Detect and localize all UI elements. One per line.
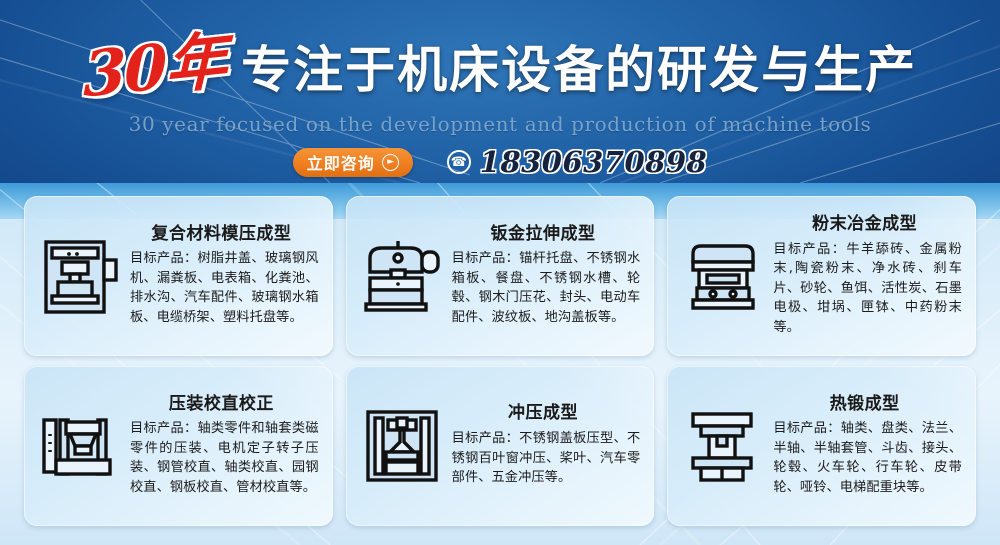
card-description: 目标产品：不锈钢盖板压型、不锈钢百叶窗冲压、桨叶、汽车零部件、五金冲压等。 <box>452 429 641 488</box>
card-body: 热锻成型 目标产品：轴类、盘类、法兰、半轴、半轴套管、斗齿、接头、轮毂、火车轮、… <box>771 395 964 498</box>
feature-card[interactable]: 复合材料模压成型 目标产品：树脂井盖、玻璃钢风机、漏粪板、电表箱、化粪池、排水沟… <box>24 196 333 356</box>
cta-row: 立即咨询 ► ☎ 18306370898 <box>0 145 1000 179</box>
card-body: 压装校直校正 目标产品：轴类零件和轴套类磁零件的压装、电机定子转子压装、钢管校直… <box>128 395 321 498</box>
hot-forging-press-icon <box>675 398 771 494</box>
feature-card[interactable]: 热锻成型 目标产品：轴类、盘类、法兰、半轴、半轴套管、斗齿、接头、轮毂、火车轮、… <box>667 366 976 526</box>
card-title: 复合材料模压成型 <box>130 225 319 244</box>
card-title: 粉末冶金成型 <box>773 215 962 234</box>
card-body: 钣金拉伸成型 目标产品：锚杆托盘、不锈钢水箱板、餐盘、不锈钢水槽、轮毂、钢木门压… <box>450 225 643 328</box>
phone-handset-icon: ☎ <box>447 150 471 174</box>
press-fitting-straightening-icon <box>32 398 128 494</box>
phone-group: ☎ 18306370898 <box>447 145 707 179</box>
stamping-press-icon <box>354 398 450 494</box>
play-arrow-icon: ► <box>382 154 399 171</box>
card-description: 目标产品：轴类零件和轴套类磁零件的压装、电机定子转子压装、钢管校直、轴类校直、园… <box>130 419 319 497</box>
card-description: 目标产品：牛羊舔砖、金属粉末,陶瓷粉末、净水砖、刹车片、砂轮、鱼饵、活性炭、石墨… <box>773 240 962 338</box>
card-title: 压装校直校正 <box>130 395 319 414</box>
card-title: 冲压成型 <box>452 404 641 423</box>
card-description: 目标产品：树脂井盖、玻璃钢风机、漏粪板、电表箱、化粪池、排水沟、汽车配件、玻璃钢… <box>130 249 319 327</box>
promo-banner: 30年 专注于机床设备的研发与生产 30 year focused on the… <box>0 0 1000 545</box>
card-description: 目标产品：轴类、盘类、法兰、半轴、半轴套管、斗齿、接头、轮毂、火车轮、行车轮、皮… <box>773 419 962 497</box>
card-title: 热锻成型 <box>773 395 962 414</box>
feature-card[interactable]: 粉末冶金成型 目标产品：牛羊舔砖、金属粉末,陶瓷粉末、净水砖、刹车片、砂轮、鱼饵… <box>667 196 976 356</box>
subheadline-english: 30 year focused on the development and p… <box>0 112 1000 136</box>
feature-card[interactable]: 钣金拉伸成型 目标产品：锚杆托盘、不锈钢水箱板、餐盘、不锈钢水槽、轮毂、钢木门压… <box>346 196 655 356</box>
banner-header: 30年 专注于机床设备的研发与生产 30 year focused on the… <box>0 0 1000 183</box>
phone-number[interactable]: 18306370898 <box>480 145 707 179</box>
card-body: 复合材料模压成型 目标产品：树脂井盖、玻璃钢风机、漏粪板、电表箱、化粪池、排水沟… <box>128 225 321 328</box>
headline-row: 30年 专注于机床设备的研发与生产 <box>0 34 1000 106</box>
powder-metallurgy-press-icon <box>675 228 771 324</box>
consult-now-button[interactable]: 立即咨询 ► <box>293 148 413 177</box>
hydraulic-molding-press-icon <box>32 228 128 324</box>
feature-card[interactable]: 压装校直校正 目标产品：轴类零件和轴套类磁零件的压装、电机定子转子压装、钢管校直… <box>24 366 333 526</box>
feature-card-grid: 复合材料模压成型 目标产品：树脂井盖、玻璃钢风机、漏粪板、电表箱、化粪池、排水沟… <box>24 196 976 526</box>
feature-card[interactable]: 冲压成型 目标产品：不锈钢盖板压型、不锈钢百叶窗冲压、桨叶、汽车零部件、五金冲压… <box>346 366 655 526</box>
years-badge: 30年 <box>83 29 225 110</box>
card-body: 粉末冶金成型 目标产品：牛羊舔砖、金属粉末,陶瓷粉末、净水砖、刹车片、砂轮、鱼饵… <box>771 215 964 337</box>
headline-text: 专注于机床设备的研发与生产 <box>241 45 917 95</box>
card-title: 钣金拉伸成型 <box>452 225 641 244</box>
card-description: 目标产品：锚杆托盘、不锈钢水箱板、餐盘、不锈钢水槽、轮毂、钢木门压花、封头、电动… <box>452 249 641 327</box>
consult-button-label: 立即咨询 <box>307 150 375 174</box>
card-body: 冲压成型 目标产品：不锈钢盖板压型、不锈钢百叶窗冲压、桨叶、汽车零部件、五金冲压… <box>450 404 643 487</box>
sheet-metal-drawing-press-icon <box>354 228 450 324</box>
